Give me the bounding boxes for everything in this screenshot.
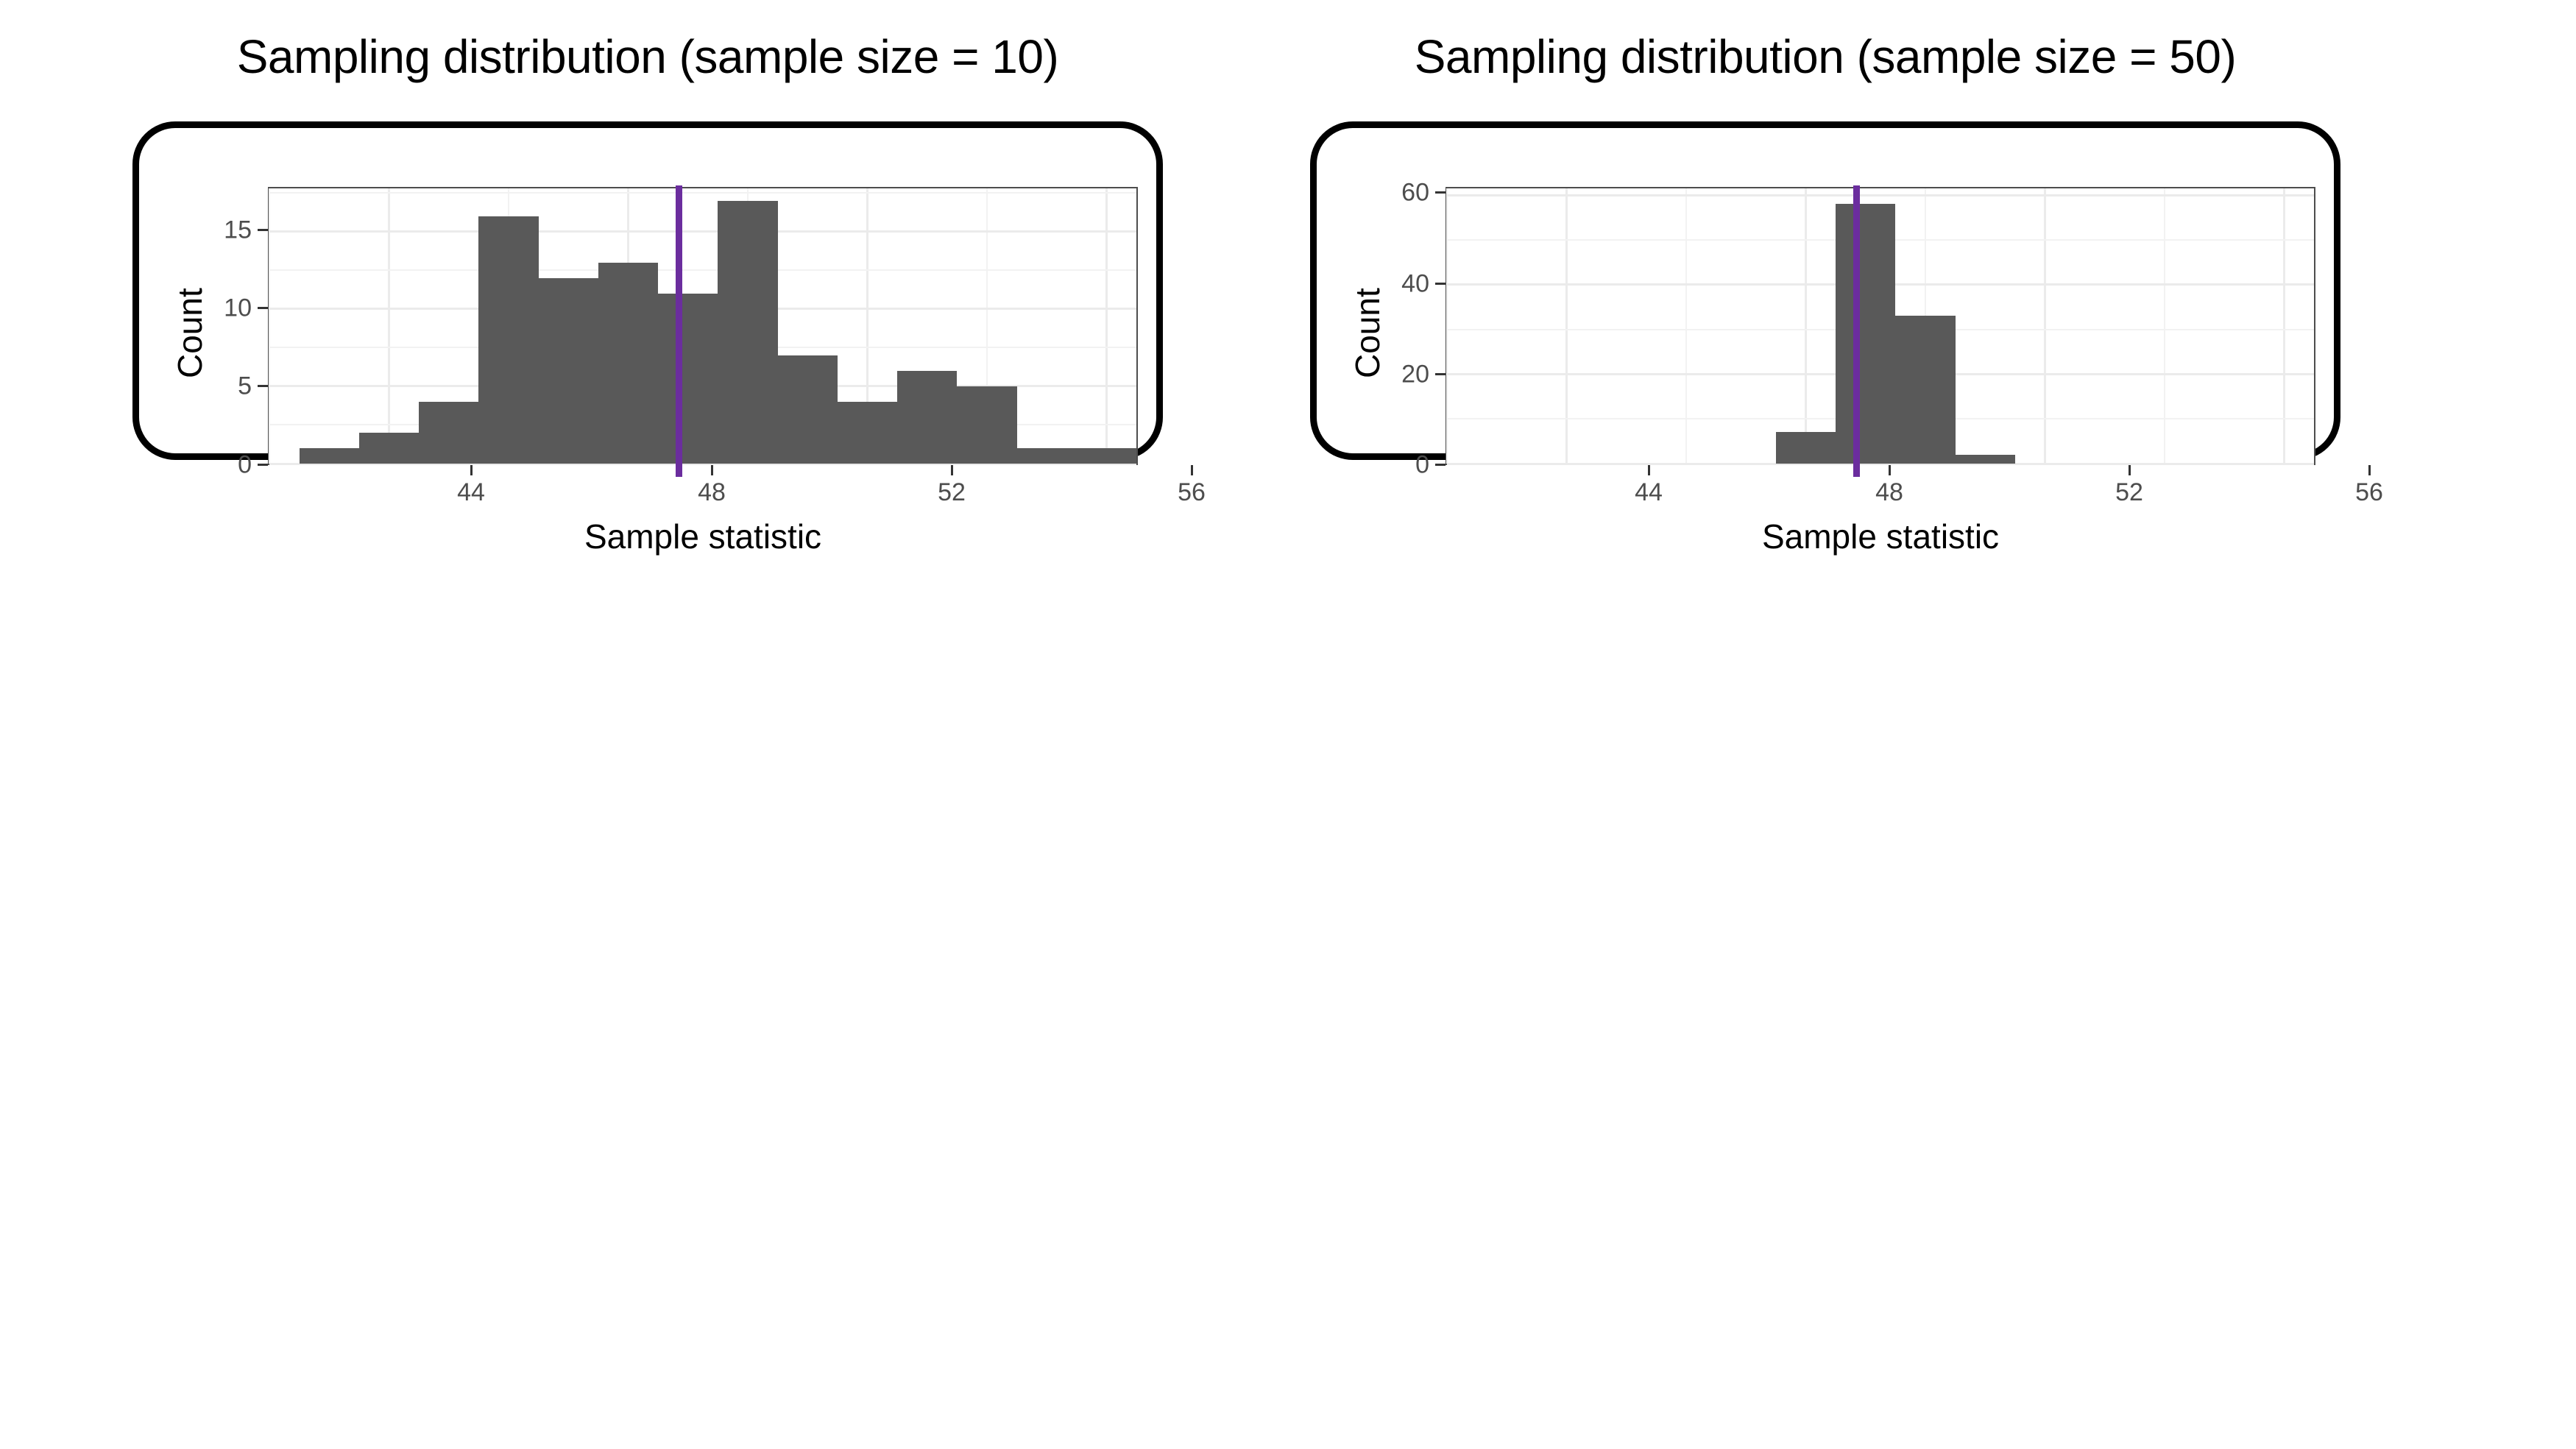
y-tick-label-0-left: 0 xyxy=(209,451,252,480)
histogram-bar xyxy=(778,355,838,464)
x-tick-label-44-right: 44 xyxy=(1635,478,1663,507)
x-tick-56-left xyxy=(1191,465,1193,475)
gridline-major-vertical xyxy=(2044,188,2046,464)
y-tick-40-right xyxy=(1435,283,1446,285)
y-tick-15-left xyxy=(258,229,268,231)
gridline-minor-vertical xyxy=(1685,188,1687,464)
y-tick-label-10-left: 10 xyxy=(209,294,252,323)
histogram-bar xyxy=(359,433,419,464)
histogram-bar xyxy=(1956,455,2015,464)
y-tick-10-left xyxy=(258,307,268,309)
y-tick-label-15-left: 15 xyxy=(209,216,252,245)
y-tick-60-right xyxy=(1435,191,1446,194)
y-tick-label-20-right: 20 xyxy=(1387,361,1429,389)
plot-panel-left xyxy=(268,187,1138,465)
gridline-major-vertical xyxy=(388,188,390,464)
x-tick-label-56-left: 56 xyxy=(1178,478,1206,507)
figure-sample-size-10: Sampling distribution (sample size = 10)… xyxy=(88,0,1266,589)
y-tick-0-left xyxy=(258,464,268,466)
histogram-bar xyxy=(598,263,658,464)
plot-frame-right: 0 20 40 60 44 48 52 56 Sample statistic … xyxy=(1310,121,2340,460)
histogram-bar xyxy=(718,201,777,464)
x-tick-label-52-left: 52 xyxy=(938,478,966,507)
x-tick-label-56-right: 56 xyxy=(2355,478,2383,507)
parameter-vline xyxy=(676,185,682,477)
x-tick-label-48-left: 48 xyxy=(698,478,726,507)
x-tick-52-right xyxy=(2129,465,2131,475)
histogram-bar xyxy=(1017,448,1077,464)
x-tick-44-right xyxy=(1648,465,1650,475)
histogram-bar xyxy=(897,371,957,464)
x-axis-title-right: Sample statistic xyxy=(1762,517,1999,556)
figure-title-right: Sampling distribution (sample size = 50) xyxy=(1266,29,2385,84)
gridline-minor-horizontal xyxy=(269,192,1136,194)
gridline-minor-vertical xyxy=(2164,188,2165,464)
x-tick-56-right xyxy=(2368,465,2371,475)
gridline-major-horizontal xyxy=(269,230,1136,233)
y-tick-label-0-right: 0 xyxy=(1387,451,1429,480)
histogram-bar xyxy=(957,386,1016,464)
histogram-bar xyxy=(1836,204,1895,464)
histogram-bar xyxy=(838,402,897,464)
y-tick-label-5-left: 5 xyxy=(209,372,252,401)
y-tick-5-left xyxy=(258,385,268,387)
y-tick-0-right xyxy=(1435,464,1446,466)
y-tick-label-60-right: 60 xyxy=(1387,179,1429,208)
plot-panel-right xyxy=(1446,187,2315,465)
x-tick-label-52-right: 52 xyxy=(2115,478,2143,507)
gridline-minor-vertical xyxy=(269,188,270,464)
histogram-bar xyxy=(419,402,478,464)
x-tick-52-left xyxy=(951,465,953,475)
gridline-minor-horizontal xyxy=(269,269,1136,271)
gridline-minor-vertical xyxy=(1446,188,1448,464)
gridline-major-horizontal xyxy=(1447,194,2314,196)
histogram-bar xyxy=(1776,432,1836,464)
gridline-major-vertical xyxy=(1805,188,1807,464)
y-axis-title-right: Count xyxy=(1348,288,1387,378)
parameter-vline xyxy=(1853,185,1860,477)
x-tick-label-44-left: 44 xyxy=(457,478,485,507)
plot-frame-left: 0 5 10 15 44 48 52 56 Sample statistic C… xyxy=(132,121,1163,460)
figure-sample-size-50: Sampling distribution (sample size = 50)… xyxy=(1266,0,2444,589)
x-tick-44-left xyxy=(470,465,473,475)
histogram-bar xyxy=(478,216,538,464)
gridline-major-vertical xyxy=(2283,188,2285,464)
y-tick-20-right xyxy=(1435,373,1446,375)
x-tick-48-left xyxy=(711,465,713,475)
y-axis-title-left: Count xyxy=(170,288,210,378)
x-tick-48-right xyxy=(1889,465,1891,475)
gridline-major-vertical xyxy=(1565,188,1568,464)
histogram-bar xyxy=(300,448,359,464)
gridline-major-vertical xyxy=(1105,188,1108,464)
histogram-bar xyxy=(539,278,598,464)
figure-title-left: Sampling distribution (sample size = 10) xyxy=(88,29,1207,84)
histogram-bar xyxy=(658,294,718,464)
x-axis-title-left: Sample statistic xyxy=(584,517,821,556)
histogram-bar xyxy=(1895,316,1955,464)
histogram-bar xyxy=(1077,448,1136,464)
y-tick-label-40-right: 40 xyxy=(1387,270,1429,299)
x-tick-label-48-right: 48 xyxy=(1875,478,1903,507)
